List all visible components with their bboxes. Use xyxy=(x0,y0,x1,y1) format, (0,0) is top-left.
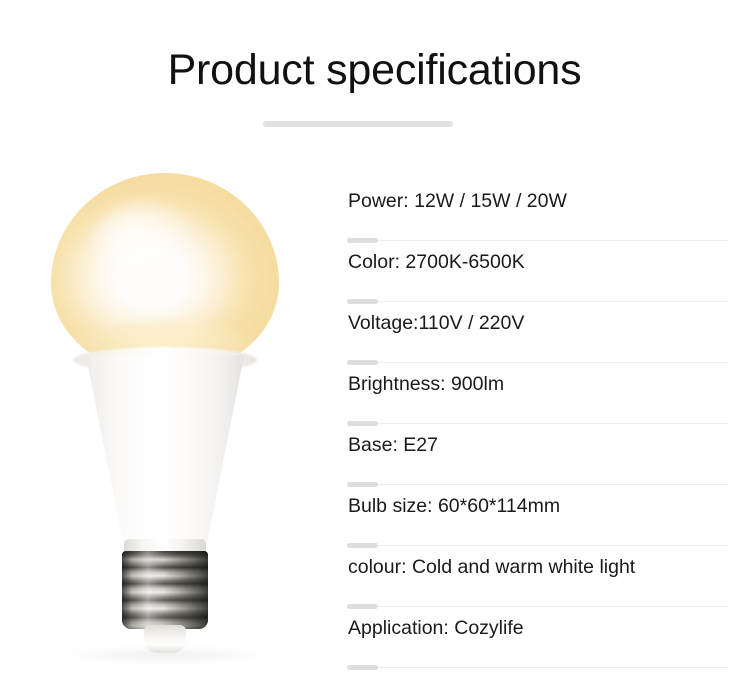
bulb-e27-screw-base xyxy=(122,551,208,629)
spec-text-bulb-size: Bulb size: 60*60*114mm xyxy=(348,491,560,521)
spec-row-application: Application: Cozylife xyxy=(347,613,728,674)
bulb-glass-globe-icon xyxy=(51,173,279,373)
spec-row-brightness: Brightness: 900lm xyxy=(347,369,728,430)
spec-row-power: Power: 12W / 15W / 20W xyxy=(347,186,728,247)
spec-text-color: Color: 2700K-6500K xyxy=(348,247,525,277)
spec-row-voltage: Voltage:110V / 220V xyxy=(347,308,728,369)
product-image-light-bulb xyxy=(18,155,318,675)
spec-row-bulb-size: Bulb size: 60*60*114mm xyxy=(347,491,728,552)
spec-divider xyxy=(347,362,728,363)
spec-row-colour: colour: Cold and warm white light xyxy=(347,552,728,613)
spec-divider xyxy=(347,606,728,607)
spec-divider xyxy=(347,484,728,485)
bulb-neck xyxy=(79,355,251,547)
spec-divider xyxy=(347,240,728,241)
spec-row-color: Color: 2700K-6500K xyxy=(347,247,728,308)
spec-divider xyxy=(347,423,728,424)
spec-row-base: Base: E27 xyxy=(347,430,728,491)
title-underline-divider xyxy=(263,121,453,127)
spec-text-voltage: Voltage:110V / 220V xyxy=(348,308,524,338)
product-specifications-page: { "header": { "title": "Product specific… xyxy=(0,0,749,700)
spec-text-colour: colour: Cold and warm white light xyxy=(348,552,635,582)
spec-text-power: Power: 12W / 15W / 20W xyxy=(348,186,567,216)
bulb-drop-shadow xyxy=(62,647,268,663)
bulb-highlight xyxy=(92,201,197,285)
specifications-list: Power: 12W / 15W / 20W Color: 2700K-6500… xyxy=(347,186,728,674)
spec-divider xyxy=(347,301,728,302)
spec-text-application: Application: Cozylife xyxy=(348,613,524,643)
spec-text-brightness: Brightness: 900lm xyxy=(348,369,504,399)
spec-divider xyxy=(347,545,728,546)
page-title: Product specifications xyxy=(0,42,749,98)
spec-divider xyxy=(347,667,728,668)
spec-text-base: Base: E27 xyxy=(348,430,438,460)
